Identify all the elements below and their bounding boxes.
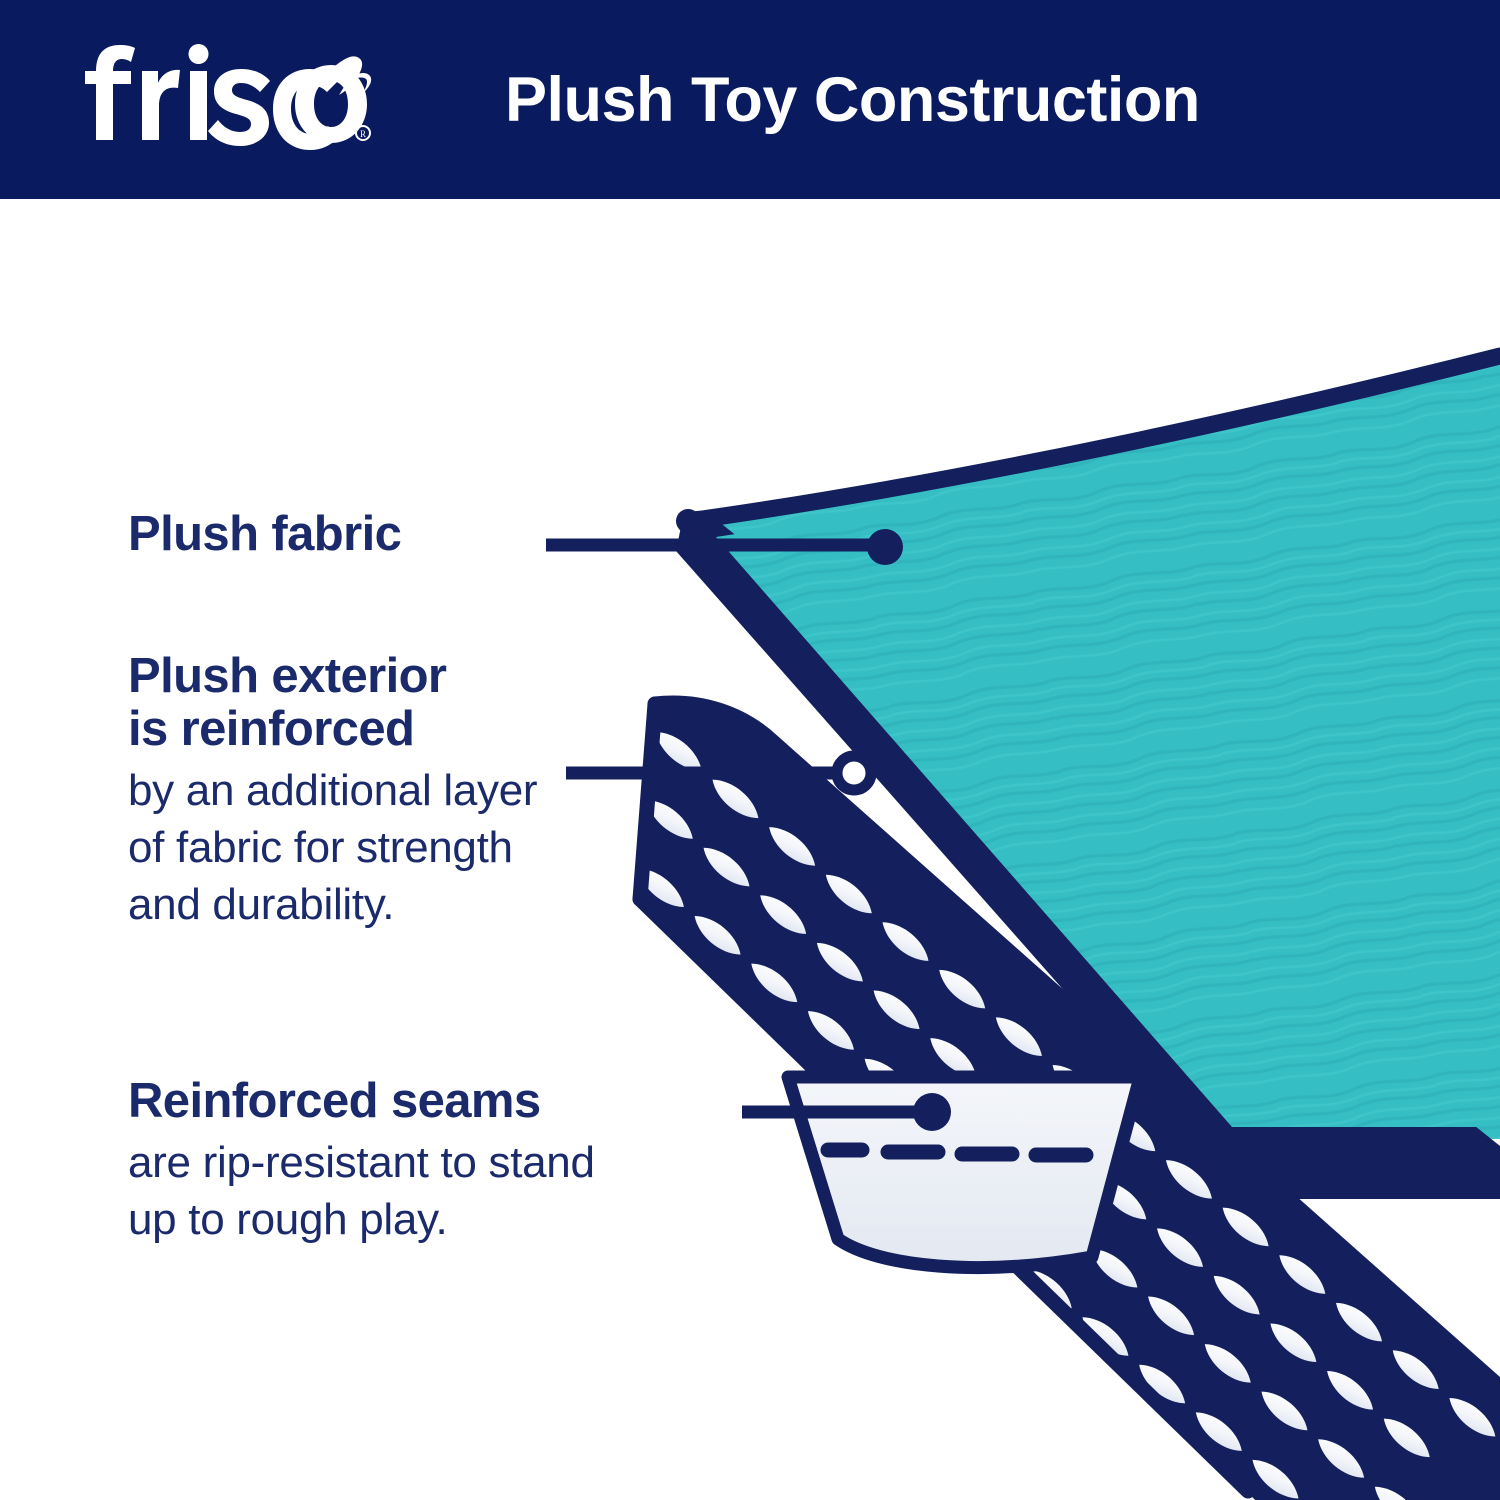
header-bar: R Plush Toy Construction	[0, 0, 1500, 199]
callout-plush-fabric: Plush fabric	[128, 508, 401, 561]
callout-body-line: by an additional layer	[128, 762, 537, 819]
callout-plush-exterior-reinforced: Plush exterior is reinforced by an addit…	[128, 650, 537, 933]
frisco-logo: R	[82, 40, 382, 152]
callout-reinforced-seams: Reinforced seams are rip-resistant to st…	[128, 1075, 595, 1248]
callout-body: are rip-resistant to stand up to rough p…	[128, 1134, 595, 1248]
page-title: Plush Toy Construction	[505, 0, 1200, 199]
callout-body-line: up to rough play.	[128, 1191, 595, 1248]
seam-flap-layer	[786, 1077, 1140, 1267]
callout-heading: Plush fabric	[128, 508, 401, 561]
callout-heading-line: Reinforced seams	[128, 1075, 595, 1128]
infographic-page: R Plush Toy Construction	[0, 0, 1500, 1500]
callout-body: by an additional layer of fabric for str…	[128, 762, 537, 934]
svg-text:R: R	[360, 129, 366, 139]
callout-body-line: of fabric for strength	[128, 819, 537, 876]
callout-heading: Reinforced seams	[128, 1075, 595, 1128]
callout-heading: Plush exterior is reinforced	[128, 650, 537, 756]
callout-heading-line: Plush exterior	[128, 650, 537, 703]
callout-body-line: are rip-resistant to stand	[128, 1134, 595, 1191]
callout-body-line: and durability.	[128, 876, 537, 933]
callout-heading-line: is reinforced	[128, 703, 537, 756]
